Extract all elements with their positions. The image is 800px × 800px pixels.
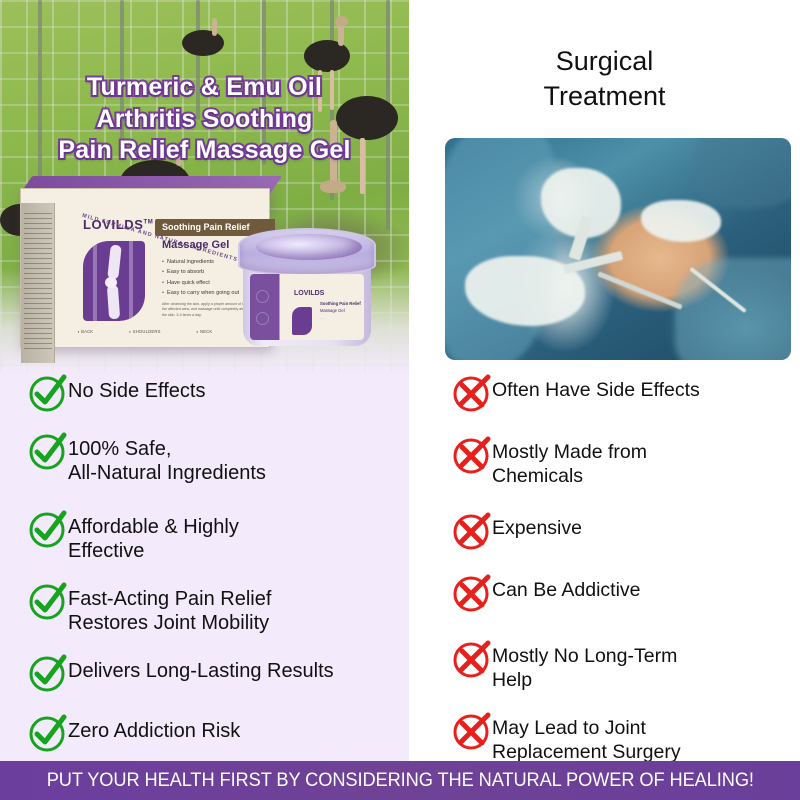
product-image: LOVILDSTM MILD FORMULA AND NATURAL INGRE… bbox=[14, 176, 409, 366]
jar-seal-weight: g bbox=[256, 312, 269, 325]
surgical-treatment-panel: Surgical Treatment bbox=[409, 0, 800, 761]
cross-icon bbox=[452, 511, 492, 551]
product-box: LOVILDSTM MILD FORMULA AND NATURAL INGRE… bbox=[20, 188, 270, 348]
check-icon bbox=[28, 373, 68, 413]
right-title-line-1: Surgical bbox=[409, 44, 800, 79]
list-item: Mostly Made from Chemicals bbox=[452, 435, 792, 511]
list-item: Mostly No Long-Term Help bbox=[452, 639, 792, 711]
list-item-label: Fast-Acting Pain Relief Restores Joint M… bbox=[68, 581, 271, 636]
box-side-face bbox=[21, 203, 55, 363]
body-icon-neck: NECK bbox=[196, 329, 213, 334]
check-icon bbox=[28, 653, 68, 693]
jar-lid bbox=[238, 228, 376, 276]
drawbacks-list: Often Have Side Effects Mostly Made from… bbox=[452, 373, 792, 781]
bottom-banner: PUT YOUR HEALTH FIRST BY CONSIDERING THE… bbox=[0, 761, 800, 800]
list-item-label: 100% Safe, All-Natural Ingredients bbox=[68, 431, 266, 486]
cross-icon bbox=[452, 435, 492, 475]
body-icon-back: BACK bbox=[77, 329, 93, 334]
list-item-label: Affordable & Highly Effective bbox=[68, 509, 239, 564]
jar-subtitle-1: Soothing Pain Relief bbox=[320, 301, 361, 306]
check-icon bbox=[28, 509, 68, 549]
patella-bone bbox=[105, 277, 117, 288]
lower-bone bbox=[107, 285, 120, 320]
body-icon-shoulders: SHOULDERS bbox=[129, 329, 161, 334]
list-item: 100% Safe, All-Natural Ingredients bbox=[28, 431, 400, 509]
right-title-line-2: Treatment bbox=[409, 79, 800, 114]
product-jar: LOVILDS Soothing Pain Relief Massage Gel… bbox=[238, 228, 376, 348]
list-item: Often Have Side Effects bbox=[452, 373, 792, 435]
box-subtitle: Massage Gel bbox=[162, 239, 229, 251]
jar-subtitle-2: Massage Gel bbox=[320, 308, 345, 313]
hero-title: Turmeric & Emu Oil Arthritis Soothing Pa… bbox=[0, 72, 409, 167]
natural-product-panel: Turmeric & Emu Oil Arthritis Soothing Pa… bbox=[0, 0, 409, 761]
benefits-list: No Side Effects 100% Safe, All-Natural I… bbox=[28, 373, 400, 761]
jar-feature-list: ···· bbox=[320, 316, 324, 321]
knee-joint-illustration bbox=[83, 241, 145, 321]
check-icon bbox=[28, 581, 68, 621]
list-item-label: Can Be Addictive bbox=[492, 573, 641, 603]
list-item-label: Mostly No Long-Term Help bbox=[492, 639, 677, 693]
hero-title-line-3: Pain Relief Massage Gel bbox=[0, 135, 409, 167]
list-item: Zero Addiction Risk bbox=[28, 713, 400, 761]
list-item-label: May Lead to Joint Replacement Surgery bbox=[492, 711, 681, 765]
jar-label: LOVILDS Soothing Pain Relief Massage Gel… bbox=[250, 274, 364, 340]
list-item-label: No Side Effects bbox=[68, 373, 205, 403]
check-icon bbox=[28, 713, 68, 753]
jar-knee-illustration bbox=[292, 307, 312, 335]
list-item-label: Expensive bbox=[492, 511, 582, 541]
cross-icon bbox=[452, 711, 492, 751]
upper-bone bbox=[107, 245, 121, 280]
list-item: Fast-Acting Pain Relief Restores Joint M… bbox=[28, 581, 400, 653]
banner-text: PUT YOUR HEALTH FIRST BY CONSIDERING THE… bbox=[46, 770, 753, 792]
cross-icon bbox=[452, 373, 492, 413]
box-side-text-lines bbox=[24, 213, 52, 353]
list-item-label: Zero Addiction Risk bbox=[68, 713, 240, 743]
list-item: Affordable & Highly Effective bbox=[28, 509, 400, 581]
list-item: Can Be Addictive bbox=[452, 573, 792, 639]
list-item-label: Delivers Long-Lasting Results bbox=[68, 653, 334, 683]
surgery-photo bbox=[445, 138, 791, 360]
list-item: No Side Effects bbox=[28, 373, 400, 431]
cross-icon bbox=[452, 639, 492, 679]
page-title: Surgical Treatment bbox=[409, 44, 800, 113]
hero-title-line-1: Turmeric & Emu Oil bbox=[0, 72, 409, 104]
list-item: Expensive bbox=[452, 511, 792, 573]
cross-icon bbox=[452, 573, 492, 613]
jar-seal-natural: ✿ bbox=[256, 290, 269, 303]
check-icon bbox=[28, 431, 68, 471]
jar-brand-name: LOVILDS bbox=[294, 290, 324, 297]
list-item-label: Often Have Side Effects bbox=[492, 373, 700, 403]
list-item: Delivers Long-Lasting Results bbox=[28, 653, 400, 713]
infographic-page: Turmeric & Emu Oil Arthritis Soothing Pa… bbox=[0, 0, 800, 800]
list-item-label: Mostly Made from Chemicals bbox=[492, 435, 647, 489]
hero-title-line-2: Arthritis Soothing bbox=[0, 104, 409, 136]
gel-content bbox=[256, 234, 362, 260]
